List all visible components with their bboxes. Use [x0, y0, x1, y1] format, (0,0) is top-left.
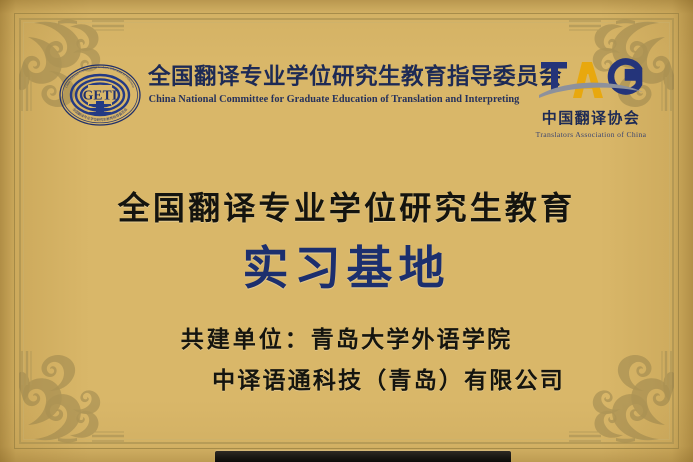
- plaque-header: GETI China National Committee for Gradua…: [0, 48, 693, 140]
- committee-name-block: 全国翻译专业学位研究生教育指导委员会 China National Commit…: [148, 64, 520, 105]
- partner-name-university: 青岛大学外语学院: [311, 327, 513, 353]
- partner-line-first: 共建单位：青岛大学外语学院: [0, 320, 693, 354]
- tac-logo-block: 中国翻译协会 Translators Association of China: [524, 58, 658, 139]
- committee-name-cn: 全国翻译专业学位研究生教育指导委员会: [148, 64, 520, 91]
- tac-logo-icon: [535, 58, 647, 104]
- svg-text:GETI: GETI: [83, 88, 118, 103]
- plaque-title-sub: 实习基地: [0, 232, 693, 298]
- partner-name-company: 中译语通科技（青岛）有限公司: [0, 361, 693, 395]
- honorary-plaque: GETI China National Committee for Gradua…: [0, 0, 693, 462]
- partner-label: 共建单位：: [181, 327, 311, 353]
- committee-name-en: China National Committee for Graduate Ed…: [148, 94, 520, 105]
- geti-emblem-icon: GETI China National Committee for Gradua…: [58, 64, 142, 126]
- plaque-base-bar: [215, 451, 511, 462]
- tac-name-en: Translators Association of China: [524, 130, 658, 139]
- plaque-title-main: 全国翻译专业学位研究生教育: [0, 183, 693, 229]
- tac-name-cn: 中国翻译协会: [524, 107, 658, 128]
